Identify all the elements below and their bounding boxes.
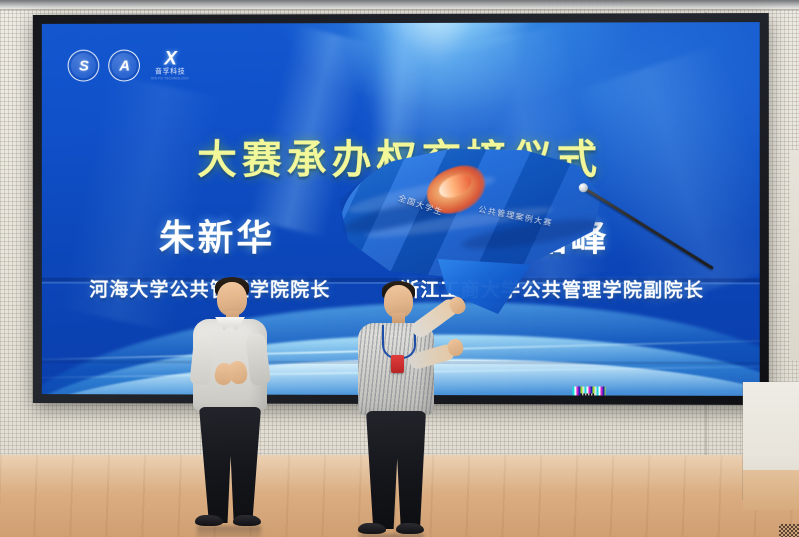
floor-reflection bbox=[197, 526, 261, 537]
logo-chinese-name: 音孚科技 bbox=[155, 67, 185, 76]
xinyu-technology-logo-icon: X 音孚科技 XIN FU TECHNOLOGY bbox=[151, 50, 189, 81]
ceremony-photograph: S A X 音孚科技 XIN FU TECHNOLOGY 大赛承办权交接仪式 朱… bbox=[0, 0, 799, 537]
duplicated-block-artifact-floor bbox=[743, 470, 799, 510]
sponsor-logo-row: S A X 音孚科技 XIN FU TECHNOLOGY bbox=[68, 49, 190, 81]
trousers bbox=[199, 407, 261, 523]
compression-glitch-block bbox=[580, 393, 594, 395]
edge-strip-artifact bbox=[790, 150, 799, 360]
logo-x-glyph: X bbox=[164, 50, 176, 67]
logo-english-name: XIN FU TECHNOLOGY bbox=[151, 76, 189, 81]
right-shoe bbox=[233, 515, 261, 526]
corner-noise-artifact bbox=[779, 524, 799, 537]
hohai-university-seal-icon: S bbox=[68, 50, 100, 82]
ceiling-trim bbox=[0, 0, 799, 9]
wall-seam bbox=[0, 9, 799, 11]
name-badge bbox=[391, 355, 404, 373]
trousers bbox=[366, 411, 426, 529]
left-shoe bbox=[195, 515, 223, 526]
public-administration-seal-icon: A bbox=[108, 50, 140, 82]
left-speaker-name: 朱新华 bbox=[159, 209, 275, 261]
person-left-clapping bbox=[193, 277, 283, 527]
lanyard bbox=[382, 325, 416, 359]
right-shoe bbox=[396, 523, 424, 534]
left-shoe bbox=[358, 523, 386, 534]
person-right-holding-flag bbox=[358, 281, 450, 531]
